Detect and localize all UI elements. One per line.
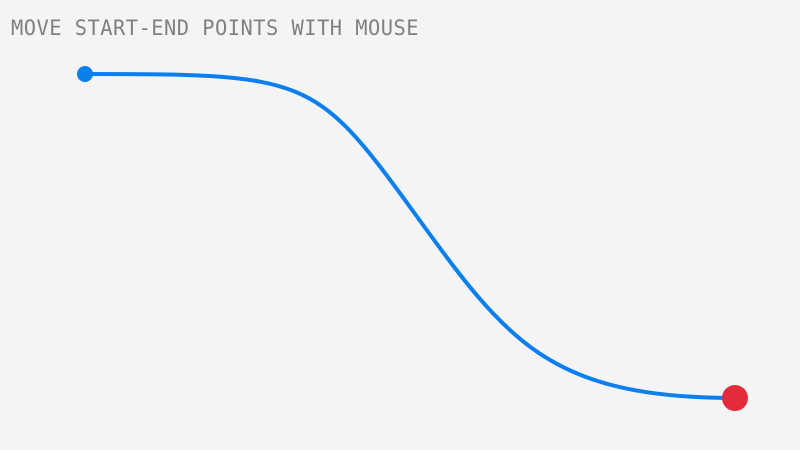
start-point-drag-area[interactable] (70, 59, 100, 89)
bezier-canvas-stage[interactable]: MOVE START-END POINTS WITH MOUSE (0, 0, 800, 450)
page-title: MOVE START-END POINTS WITH MOUSE (11, 17, 419, 39)
bezier-curve-svg (0, 0, 800, 450)
bezier-curve-path (85, 74, 735, 398)
end-point-drag-area[interactable] (715, 378, 755, 418)
